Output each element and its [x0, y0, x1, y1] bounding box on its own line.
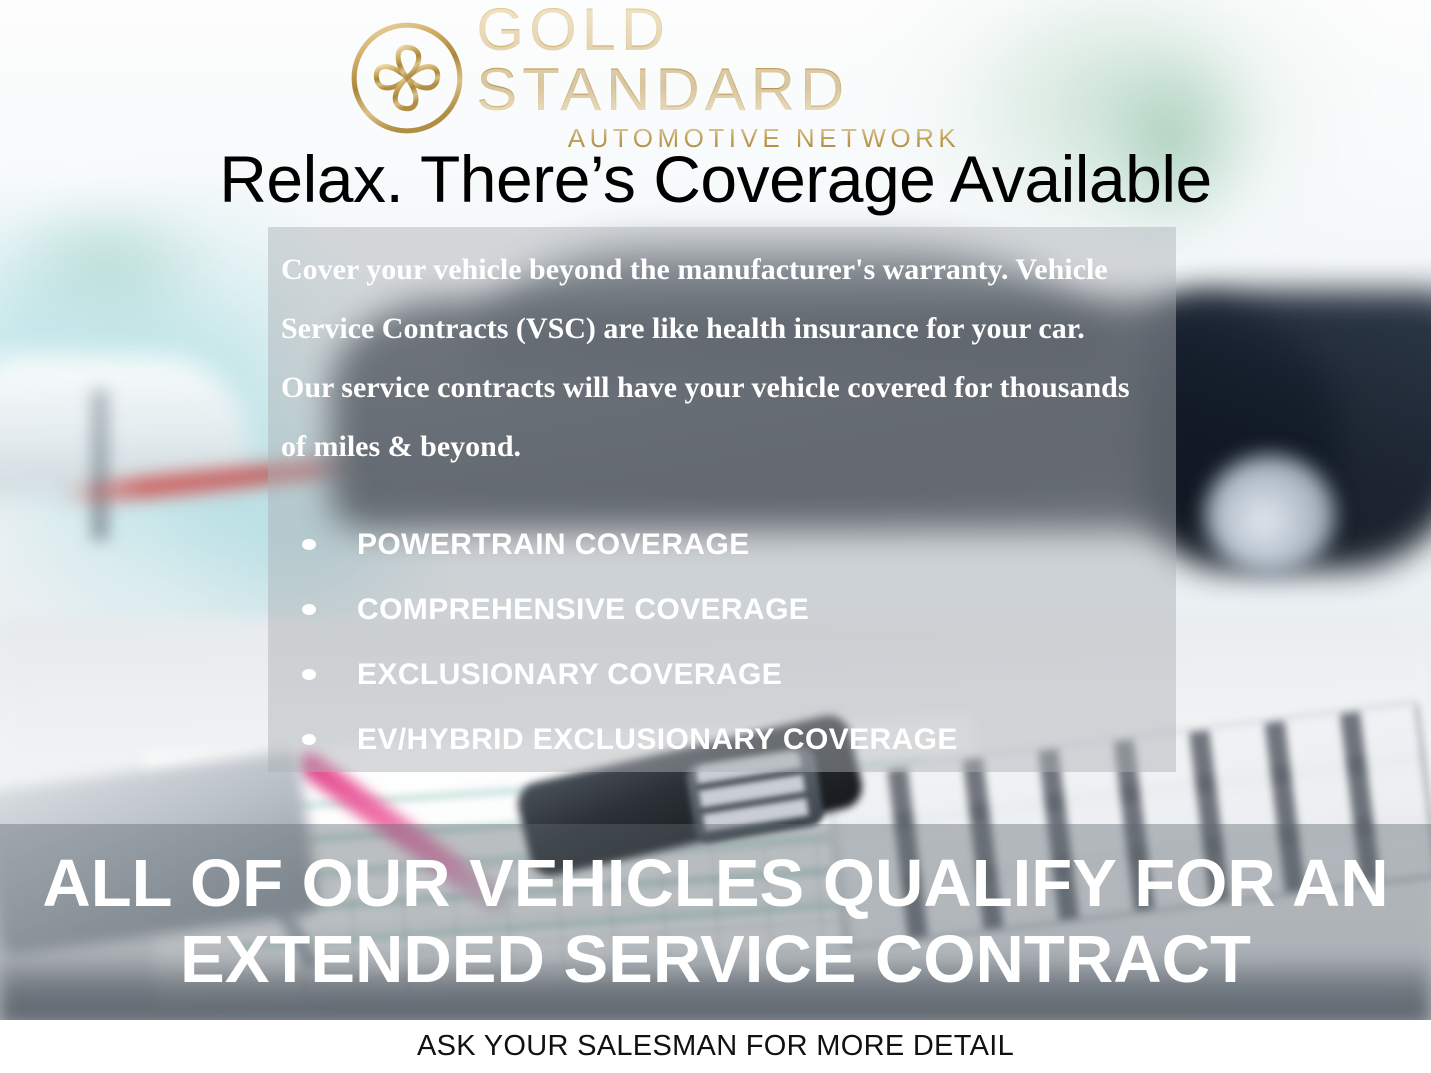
coverage-slide: GOLD STANDARD AUTOMOTIVE NETWORK Relax. …: [0, 0, 1431, 1073]
banner-line-1: ALL OF OUR VEHICLES QUALIFY FOR AN: [42, 846, 1388, 922]
bullet-dot-icon: [302, 669, 316, 680]
brand-wordmark: GOLD STANDARD AUTOMOTIVE NETWORK: [482, 0, 1046, 157]
coverage-label: POWERTRAIN COVERAGE: [357, 528, 750, 562]
background-pole: [92, 390, 108, 540]
footer-bar: ASK YOUR SALESMAN FOR MORE DETAIL: [0, 1020, 1431, 1073]
list-item: COMPREHENSIVE COVERAGE: [296, 577, 1156, 642]
bullet-dot-icon: [302, 604, 316, 615]
coverage-label: COMPREHENSIVE COVERAGE: [357, 593, 809, 627]
qualify-banner: ALL OF OUR VEHICLES QUALIFY FOR AN EXTEN…: [0, 824, 1431, 1020]
page-title: Relax. There’s Coverage Available: [0, 146, 1431, 212]
coverage-label: EV/HYBRID EXCLUSIONARY COVERAGE: [357, 723, 958, 757]
bullet-dot-icon: [302, 734, 316, 745]
bullet-dot-icon: [302, 539, 316, 550]
list-item: POWERTRAIN COVERAGE: [296, 512, 1156, 577]
coverage-label: EXCLUSIONARY COVERAGE: [357, 658, 782, 692]
brand-title: GOLD STANDARD: [476, 0, 1051, 120]
gold-standard-knot-icon: [346, 17, 468, 139]
list-item: EV/HYBRID EXCLUSIONARY COVERAGE: [296, 707, 1156, 772]
footer-text: ASK YOUR SALESMAN FOR MORE DETAIL: [417, 1030, 1014, 1063]
list-item: EXCLUSIONARY COVERAGE: [296, 642, 1156, 707]
background-wheel-hub: [1205, 455, 1335, 575]
coverage-list: POWERTRAIN COVERAGE COMPREHENSIVE COVERA…: [296, 512, 1156, 772]
brand-logo: GOLD STANDARD AUTOMOTIVE NETWORK: [346, 16, 1046, 140]
body-paragraph: Cover your vehicle beyond the manufactur…: [281, 240, 1141, 476]
banner-line-2: EXTENDED SERVICE CONTRACT: [180, 922, 1251, 998]
background-foliage-left: [10, 200, 210, 330]
